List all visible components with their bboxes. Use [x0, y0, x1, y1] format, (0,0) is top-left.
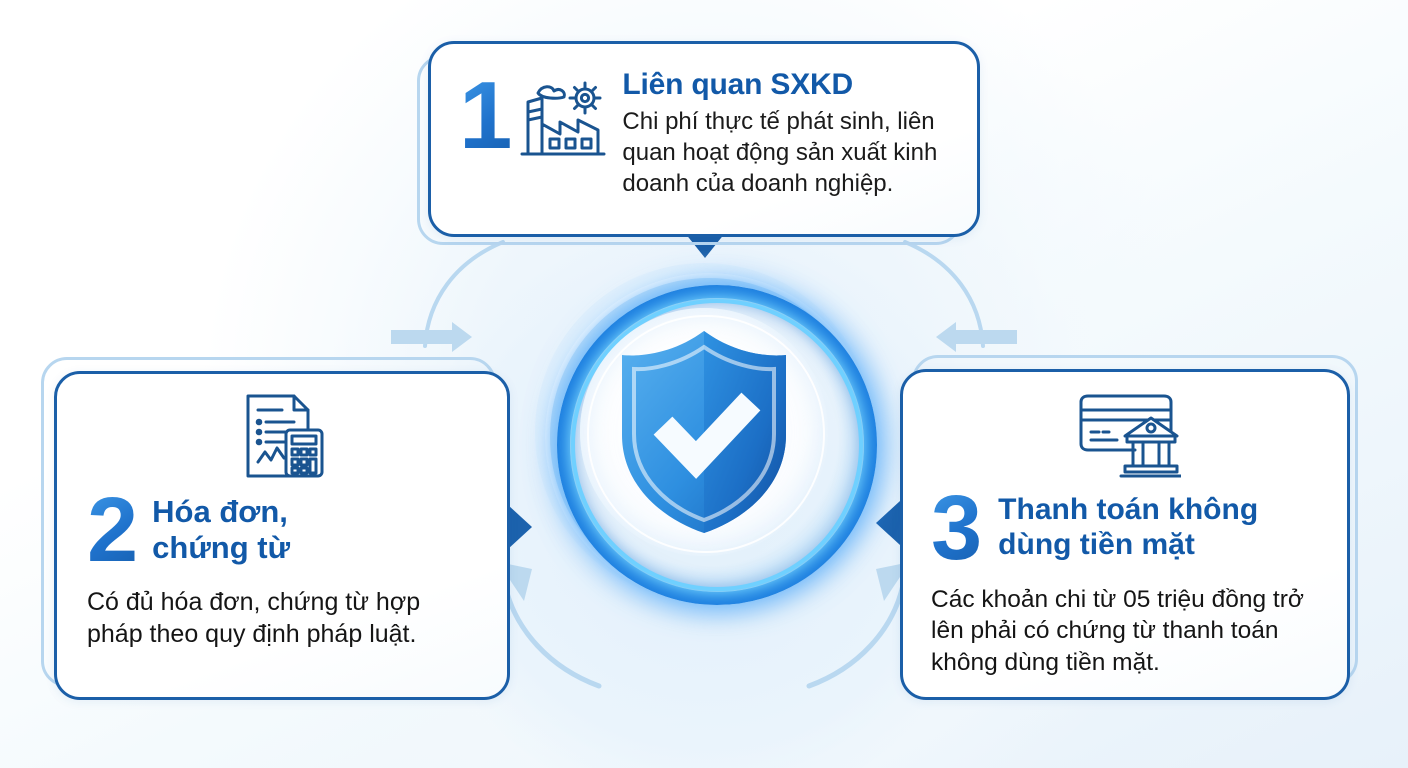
card-2-number: 2	[87, 484, 138, 576]
card-3-title-line1: Thanh toán không	[998, 493, 1258, 528]
invoice-calculator-icon	[87, 390, 481, 482]
card-1-title: Liên quan SXKD	[622, 68, 959, 102]
card-1-number: 1	[459, 68, 512, 164]
arc-arrow-left-up	[391, 242, 503, 352]
center-emblem	[535, 263, 873, 601]
card-2-title: Hóa đơn, chứng từ	[152, 494, 290, 566]
card-3-body: Các khoản chi từ 05 triệu đồng trở lên p…	[931, 584, 1323, 678]
card-2-title-line1: Hóa đơn,	[152, 494, 290, 530]
arc-arrow-right-up	[905, 242, 1017, 352]
pointer-left-icon	[876, 501, 900, 545]
shield-check-icon	[614, 327, 794, 537]
card-3-title-line2: dùng tiền mặt	[998, 528, 1258, 563]
card-2-title-line2: chứng từ	[152, 530, 290, 566]
card-1-body: Chi phí thực tế phát sinh, liên quan hoạ…	[622, 106, 959, 200]
card-3-number: 3	[931, 482, 982, 574]
card-thanh-toán-không-dùng-tiền-mặt[interactable]: 3 Thanh toán không dùng tiền mặt Các kho…	[900, 369, 1350, 700]
card-hóa-đơn-chứng-từ[interactable]: 2 Hóa đơn, chứng từ Có đủ hóa đơn, chứng…	[54, 371, 510, 700]
card-bank-icon	[931, 388, 1323, 480]
card-liên-quan-sxkd[interactable]: 1	[428, 41, 980, 237]
card-3-title: Thanh toán không dùng tiền mặt	[998, 493, 1258, 563]
pointer-right-icon	[508, 505, 532, 549]
card-2-body: Có đủ hóa đơn, chứng từ hợp pháp theo qu…	[87, 586, 481, 650]
factory-gear-icon	[516, 76, 608, 167]
infographic-canvas: 1	[0, 0, 1408, 768]
